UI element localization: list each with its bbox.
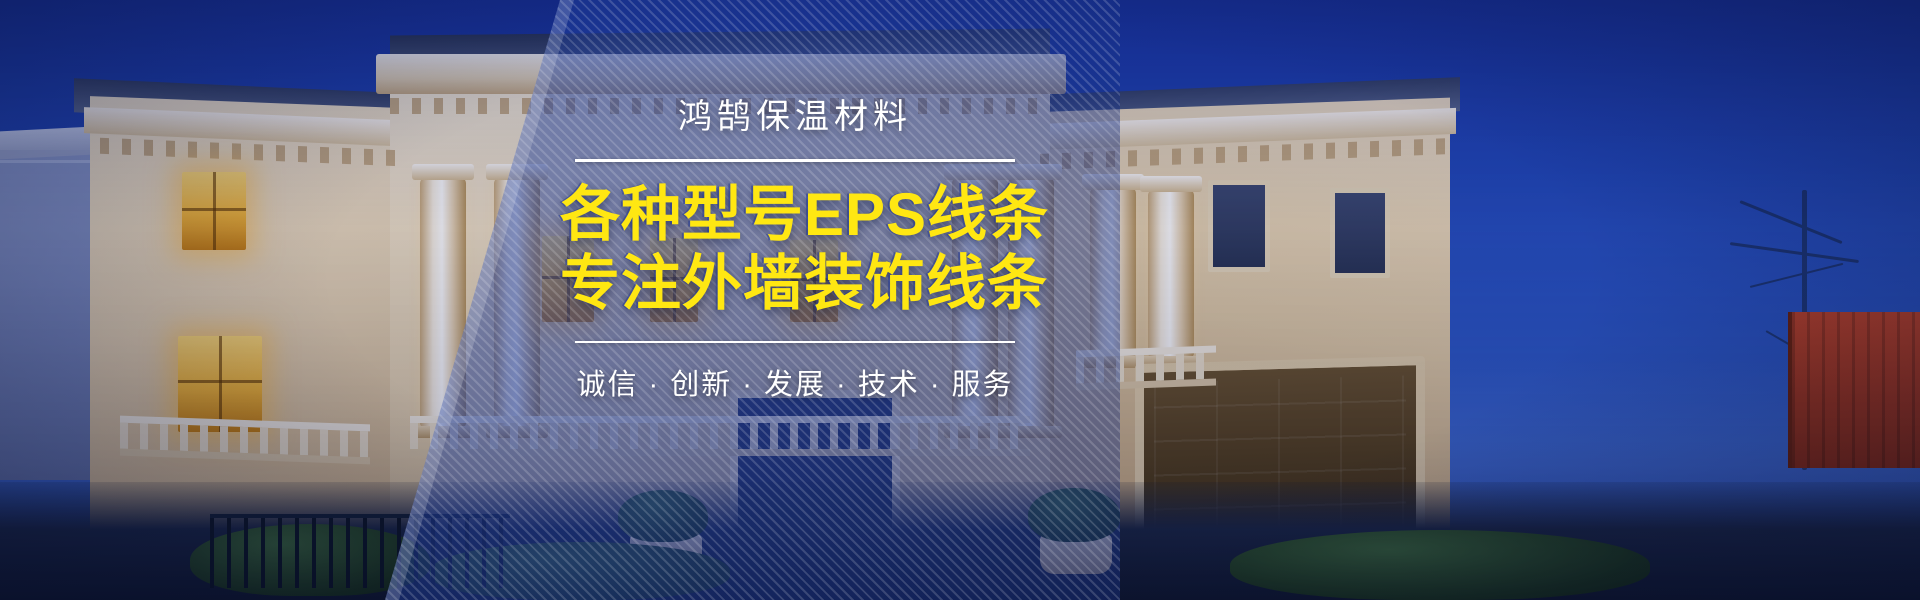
- brand-name: 鸿鹄保温材料: [560, 96, 1030, 139]
- tagline: 诚信 · 创新 · 发展 · 技术 · 服务: [560, 361, 1030, 403]
- divider-top: [575, 159, 1015, 162]
- hero-banner: 鸿鹄保温材料 各种型号EPS线条 专注外墙装饰线条 诚信 · 创新 · 发展 ·…: [0, 0, 1920, 600]
- headline-line-2: 专注外墙装饰线条: [560, 249, 1030, 319]
- headline-line-1: 各种型号EPS线条: [560, 180, 1030, 250]
- divider-bottom: [575, 341, 1015, 343]
- banner-text-block: 鸿鹄保温材料 各种型号EPS线条 专注外墙装饰线条 诚信 · 创新 · 发展 ·…: [560, 96, 1030, 403]
